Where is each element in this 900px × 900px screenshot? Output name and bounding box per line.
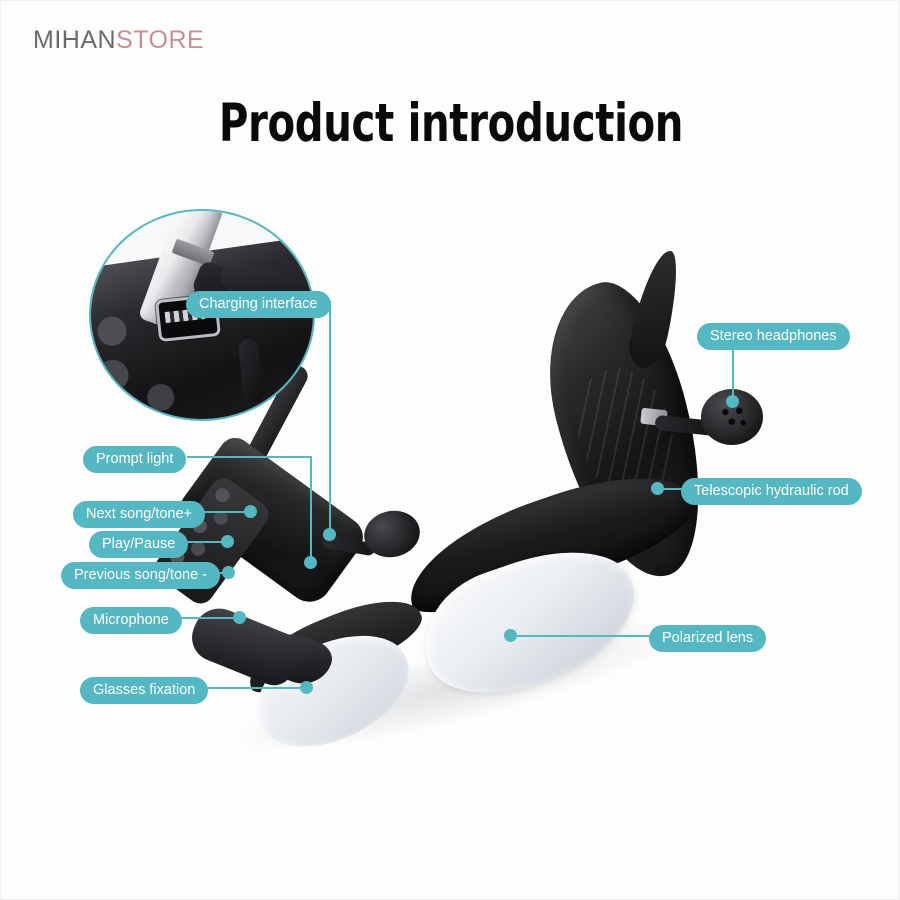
callout-microphone[interactable]: Microphone bbox=[80, 607, 182, 634]
product-infographic: MIHANSTORE Product introduction bbox=[0, 0, 900, 900]
callout-next-song[interactable]: Next song/tone+ bbox=[73, 501, 205, 528]
dot-prompt-light bbox=[304, 556, 317, 569]
callout-charging-interface[interactable]: Charging interface bbox=[186, 291, 331, 318]
callout-play-pause[interactable]: Play/Pause bbox=[89, 531, 188, 558]
lead-charging-interface-vertical bbox=[329, 301, 331, 533]
dot-previous-song bbox=[222, 566, 235, 579]
page-title: Product introduction bbox=[109, 93, 793, 154]
lead-microphone-horizontal bbox=[179, 617, 239, 619]
brand-logo-part-one: MIHAN bbox=[33, 26, 116, 54]
brand-logo: MIHANSTORE bbox=[33, 26, 204, 55]
dot-polarized-lens bbox=[504, 629, 517, 642]
lead-next-song-horizontal bbox=[197, 511, 251, 513]
dot-telescopic-rod bbox=[651, 482, 664, 495]
callout-glasses-fixation[interactable]: Glasses fixation bbox=[80, 677, 208, 704]
callout-previous-song[interactable]: Previous song/tone - bbox=[61, 562, 220, 589]
callout-telescopic-rod[interactable]: Telescopic hydraulic rod bbox=[681, 478, 862, 505]
callout-prompt-light[interactable]: Prompt light bbox=[83, 446, 186, 473]
dot-play-pause bbox=[221, 535, 234, 548]
callout-stereo-headphones[interactable]: Stereo headphones bbox=[697, 323, 850, 350]
lead-glasses-fixation-horizontal bbox=[197, 687, 307, 689]
dot-stereo-headphones bbox=[726, 395, 739, 408]
dot-glasses-fixation bbox=[300, 681, 313, 694]
lead-prompt-light-horizontal bbox=[187, 456, 311, 458]
callout-polarized-lens[interactable]: Polarized lens bbox=[649, 625, 766, 652]
lead-polarized-lens-horizontal bbox=[513, 635, 655, 637]
dot-next-song bbox=[244, 505, 257, 518]
brand-logo-part-two: STORE bbox=[116, 26, 204, 54]
dot-charging-interface bbox=[323, 528, 336, 541]
dot-microphone bbox=[233, 611, 246, 624]
lead-stereo-headphones-vertical bbox=[732, 346, 734, 400]
lead-prompt-light-vertical bbox=[310, 456, 312, 561]
